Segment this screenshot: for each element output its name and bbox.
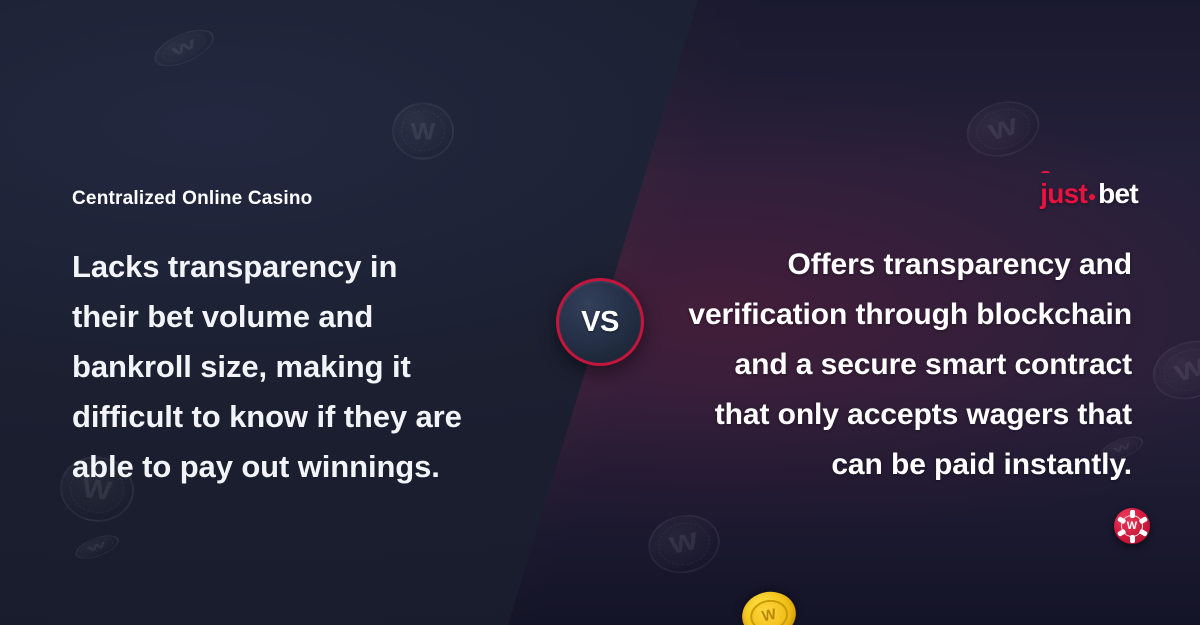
chip-edge-tick [1116, 528, 1125, 536]
left-panel-body-text: Lacks transparency in their bet volume a… [72, 242, 472, 492]
logo-dot-icon [1089, 194, 1095, 200]
coin-w-mark: W [761, 606, 778, 624]
justbet-logo[interactable]: just bet [1040, 180, 1138, 208]
vs-label: VS [581, 308, 619, 337]
right-panel-body-text: Offers transparency and verification thr… [672, 240, 1132, 490]
justbet-poker-chip-icon: W [1114, 508, 1150, 544]
chip-edge-tick [1130, 510, 1135, 518]
chip-edge-tick [1138, 528, 1147, 536]
chip-edge-tick [1130, 535, 1135, 543]
chip-w-mark: W [1127, 521, 1137, 532]
logo-word-just: just [1040, 180, 1087, 208]
left-panel-heading: Centralized Online Casino [72, 188, 312, 210]
logo-word-bet: bet [1098, 180, 1138, 208]
coin-face: W [747, 596, 791, 625]
logo-j-accent-icon [1041, 171, 1050, 176]
logo-just-text: just [1040, 178, 1087, 209]
vs-badge: VS [556, 278, 644, 366]
chip-edge-tick [1138, 516, 1147, 524]
comparison-banner: WWWWWWWW Centralized Online Casino Lacks… [0, 0, 1200, 625]
